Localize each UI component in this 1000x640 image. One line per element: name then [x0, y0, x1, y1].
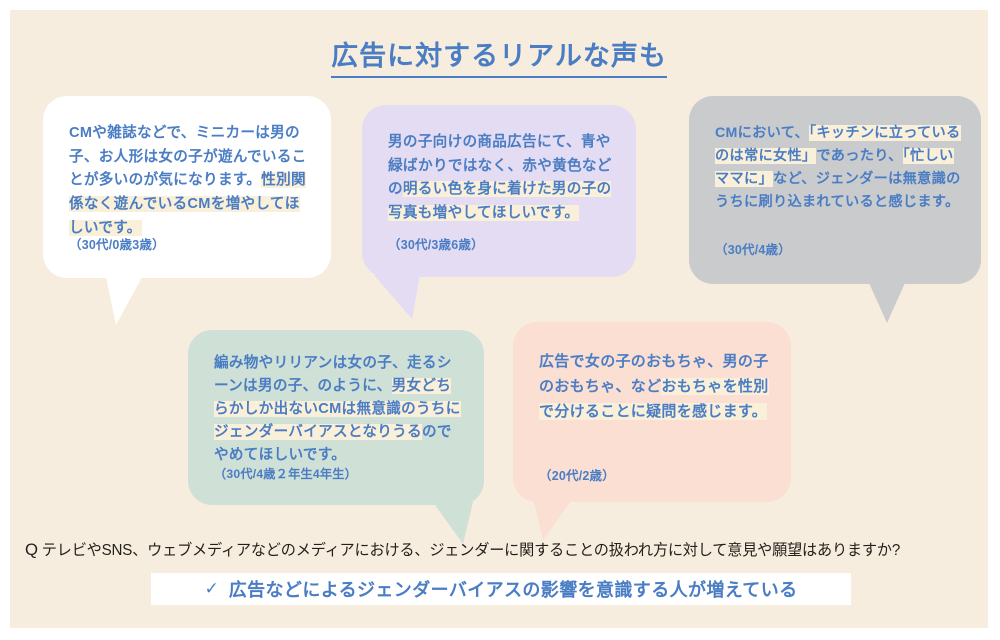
question-marker: Q: [25, 540, 42, 559]
speech-bubble-1-text: CMや雑誌などで、ミニカーは男の子、お人形は女の子が遊んでいることが多いのが気に…: [43, 96, 331, 240]
speech-bubble-1-attribution: （30代/0歳3歳）: [69, 234, 165, 253]
speech-bubble-4-text: 編み物やリリアンは女の子、走るシーンは男の子、のように、男女どちらかしか出ないC…: [188, 330, 484, 467]
survey-question: QテレビやSNS、ウェブメディアなどのメディアにおける、ジェンダーに関することの…: [25, 538, 961, 560]
page-title-text: 広告に対するリアルな声も: [331, 41, 667, 78]
conclusion-text: 広告などによるジェンダーバイアスの影響を意識する人が増えている: [229, 576, 798, 602]
slide-canvas: 広告に対するリアルな声も CMや雑誌などで、ミニカーは男の子、お人形は女の子が遊…: [10, 10, 988, 628]
speech-bubble-1: CMや雑誌などで、ミニカーは男の子、お人形は女の子が遊んでいることが多いのが気に…: [43, 96, 331, 278]
plain-phrase: CMにおいて、: [715, 125, 809, 141]
speech-bubble-2-tail: [374, 275, 420, 319]
speech-bubble-4-attribution: （30代/4歳２年生4年生）: [214, 464, 357, 482]
speech-bubble-5-text: 広告で女の子のおもちゃ、男の子のおもちゃ、などおもちゃを性別で分けることに疑問を…: [513, 322, 791, 425]
plain-phrase: であったり、: [816, 148, 902, 164]
speech-bubble-5: 広告で女の子のおもちゃ、男の子のおもちゃ、などおもちゃを性別で分けることに疑問を…: [513, 322, 791, 502]
check-icon: ✓: [204, 579, 228, 599]
speech-bubble-3-text: CMにおいて、「キッチンに立っているのは常に女性」であったり、「忙しいママに」な…: [689, 96, 981, 214]
speech-bubble-4: 編み物やリリアンは女の子、走るシーンは男の子、のように、男女どちらかしか出ないC…: [188, 330, 484, 505]
highlighted-phrase: 明るい色を身に着けた男の子の写真も増やしてほしいです。: [388, 181, 611, 221]
speech-bubble-1-tail: [106, 277, 142, 325]
question-text: テレビやSNS、ウェブメディアなどのメディアにおける、ジェンダーに関することの扱…: [42, 542, 900, 559]
speech-bubble-3: CMにおいて、「キッチンに立っているのは常に女性」であったり、「忙しいママに」な…: [689, 96, 981, 284]
speech-bubble-2-text: 男の子向けの商品広告にて、青や緑ばかりではなく、赤や黄色などの明るい色を身に着け…: [362, 105, 636, 226]
speech-bubble-3-tail: [869, 283, 905, 323]
page-title: 広告に対するリアルな声も: [10, 34, 988, 73]
conclusion-banner: ✓ 広告などによるジェンダーバイアスの影響を意識する人が増えている: [151, 573, 851, 605]
speech-bubble-2: 男の子向けの商品広告にて、青や緑ばかりではなく、赤や黄色などの明るい色を身に着け…: [362, 105, 636, 277]
speech-bubble-5-tail: [533, 498, 573, 540]
speech-bubble-2-attribution: （30代/3歳6歳）: [388, 234, 484, 253]
speech-bubble-5-attribution: （20代/2歳）: [539, 465, 615, 484]
speech-bubble-3-attribution: （30代/4歳）: [715, 239, 791, 258]
